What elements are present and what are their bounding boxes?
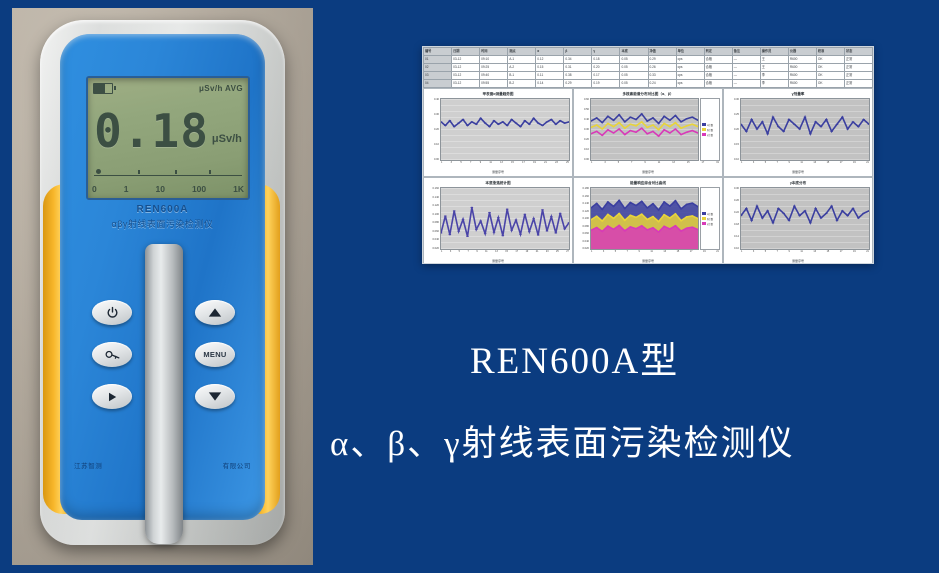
table-header-cell: 校准 (816, 48, 844, 56)
table-cell: 03-12 (452, 56, 480, 64)
device-model-label: REN600A (60, 204, 265, 215)
x-tick-label: 3 (604, 161, 605, 169)
slide-canvas: μSv/h AVG 0.18 μSv/h 0 1 10 100 1K REN60… (0, 0, 939, 573)
x-tick-label: 1 (591, 161, 592, 169)
table-cell: 0.34 (564, 56, 592, 64)
chart-plot-area (440, 187, 570, 250)
y-tick-label: 0.00 (576, 158, 589, 161)
x-tick-label: 19 (526, 250, 529, 258)
table-cell: 03 (424, 72, 452, 80)
x-tick-label: 23 (546, 250, 549, 258)
y-tick-label: 0.10 (726, 247, 739, 250)
chart-plot-area (590, 98, 699, 161)
y-tick-label: 0.10 (426, 143, 439, 146)
x-tick-label: 11 (800, 250, 802, 258)
table-cell: 王 (760, 56, 788, 64)
table-cell: 0.20 (592, 64, 620, 72)
y-tick-label: 0.160 (426, 187, 439, 190)
chart-panel[interactable]: 本底涨落统计图0.1600.1400.1200.1000.0800.0600.0… (423, 177, 573, 264)
x-tick-label: 3 (450, 250, 451, 258)
table-cell: — (732, 56, 760, 64)
x-tick-label: 19 (716, 161, 719, 169)
table-cell: 合格 (704, 64, 732, 72)
x-tick-label: 15 (827, 161, 830, 169)
chart-panel-title: 能量响应综合对比曲线 (576, 180, 720, 187)
power-icon (106, 306, 119, 319)
play-button[interactable] (92, 384, 132, 409)
x-tick-label: 13 (672, 161, 675, 169)
table-cell: 0.05 (620, 56, 648, 64)
table-cell: 03-12 (452, 64, 480, 72)
chart-y-axis: 0.600.500.400.300.200.100.00 (576, 98, 590, 161)
x-tick-label: 13 (495, 250, 498, 258)
chart-x-axis-label: 测量序号 (726, 258, 870, 264)
chart-panel[interactable]: γ剂量率0.300.250.200.150.101357911131517192… (723, 88, 873, 177)
table-cell: 正常 (844, 56, 872, 64)
table-cell: 正常 (844, 64, 872, 72)
table-cell: OK (816, 72, 844, 80)
x-tick-label: 7 (467, 250, 468, 258)
chart-x-axis: 135791113151719 (590, 161, 720, 169)
table-row[interactable]: 0403-1209:55B-20.140.290.190.050.24cps合格… (424, 80, 873, 88)
legend-item: γ计数 (702, 133, 718, 137)
y-tick-label: 0.30 (726, 187, 739, 190)
table-cell: 合格 (704, 80, 732, 88)
x-tick-label: 25 (566, 161, 569, 169)
lcd-scale-tick: 10 (155, 184, 164, 194)
table-header-cell: 本底 (620, 48, 648, 56)
table-cell: 0.15 (536, 64, 564, 72)
x-tick-label: 1 (591, 250, 592, 258)
x-tick-label: 3 (603, 250, 604, 258)
chart-panel-title: 本底涨落统计图 (426, 180, 570, 187)
x-tick-label: 17 (690, 250, 693, 258)
x-tick-label: 1 (441, 250, 442, 258)
y-tick-label: 0.100 (426, 213, 439, 216)
table-cell: 王 (760, 64, 788, 72)
chart-panel[interactable]: 能量响应综合对比曲线0.1800.1600.1400.1200.1000.080… (573, 177, 723, 264)
x-tick-label: 5 (459, 250, 460, 258)
table-cell: 0.05 (620, 72, 648, 80)
device-handle-strap (145, 244, 183, 544)
legend-label: γ计数 (707, 222, 713, 226)
x-tick-label: 11 (658, 161, 660, 169)
y-tick-label: 0.15 (726, 143, 739, 146)
chart-plot-area (740, 98, 870, 161)
table-cell: R600 (788, 72, 816, 80)
x-tick-label: 13 (663, 250, 666, 258)
x-tick-label: 17 (840, 250, 843, 258)
chart-plot-area (440, 98, 570, 161)
device-subtitle-label: αβγ射线表面污染检测仪 (60, 217, 265, 230)
product-photo: μSv/h AVG 0.18 μSv/h 0 1 10 100 1K REN60… (12, 8, 313, 565)
legend-label: α计数 (707, 212, 713, 216)
chart-x-axis-label: 测量序号 (426, 258, 570, 264)
chart-plot-body: 0.1800.1600.1400.1200.1000.0800.0600.040… (576, 187, 720, 250)
x-tick-label: 7 (631, 161, 632, 169)
table-row[interactable]: 0103-1209:10A-10.120.340.180.050.29cps合格… (424, 56, 873, 64)
table-cell: cps (676, 64, 704, 72)
chart-panel-title: 多核素能谱分布对比图（α、β） (576, 91, 720, 98)
table-header-cell: 时间 (480, 48, 508, 56)
table-cell: OK (816, 80, 844, 88)
table-row[interactable]: 0203-1209:25A-20.150.310.200.050.26cps合格… (424, 64, 873, 72)
chart-x-axis: 13579111315171921 (590, 250, 720, 258)
table-cell: B-1 (508, 72, 536, 80)
device-footer-right: 有限公司 (223, 460, 251, 470)
x-tick-label: 7 (470, 161, 471, 169)
device-branding: REN600A αβγ射线表面污染检测仪 (60, 204, 265, 230)
y-tick-label: 0.040 (576, 240, 589, 243)
table-cell: R600 (788, 64, 816, 72)
y-tick-label: 0.30 (726, 98, 739, 101)
y-tick-label: 0.160 (576, 195, 589, 198)
x-tick-label: 1 (741, 250, 742, 258)
x-tick-label: 5 (765, 161, 766, 169)
table-cell: 0.12 (536, 56, 564, 64)
y-tick-label: 0.020 (426, 247, 439, 250)
x-tick-label: 3 (753, 161, 754, 169)
x-tick-label: 19 (853, 250, 856, 258)
device-lcd-screen: μSv/h AVG 0.18 μSv/h 0 1 10 100 1K (86, 76, 250, 200)
x-tick-label: 9 (639, 250, 640, 258)
table-header-cell: 编号 (424, 48, 452, 56)
table-cell: 正常 (844, 80, 872, 88)
table-cell: cps (676, 56, 704, 64)
y-tick-label: 0.00 (426, 158, 439, 161)
x-tick-label: 7 (777, 250, 778, 258)
legend-label: γ计数 (707, 133, 713, 137)
x-tick-label: 17 (515, 250, 518, 258)
table-cell: 0.26 (648, 64, 676, 72)
legend-swatch (702, 133, 706, 136)
table-cell: 0.24 (648, 80, 676, 88)
y-tick-label: 0.40 (576, 118, 589, 121)
x-tick-label: 25 (556, 250, 559, 258)
chart-legend: α计数β计数γ计数 (700, 98, 720, 161)
chart-plot-area (590, 187, 699, 250)
table-cell: 0.05 (620, 64, 648, 72)
y-tick-label: 0.30 (426, 113, 439, 116)
table-cell: OK (816, 64, 844, 72)
y-tick-label: 0.26 (726, 199, 739, 202)
y-tick-label: 0.22 (726, 211, 739, 214)
x-tick-label: 5 (460, 161, 461, 169)
lcd-scale-tick: 1 (124, 184, 129, 194)
chart-y-axis: 0.300.260.220.180.140.10 (726, 187, 740, 250)
x-tick-label: 23 (555, 161, 558, 169)
table-header-cell: 操作员 (760, 48, 788, 56)
legend-item: γ计数 (702, 222, 718, 226)
legend-label: α计数 (707, 123, 713, 127)
menu-button-label: MENU (203, 350, 226, 359)
x-tick-label: 13 (813, 250, 816, 258)
table-cell: R600 (788, 80, 816, 88)
table-cell: B-2 (508, 80, 536, 88)
x-tick-label: 15 (827, 250, 830, 258)
table-cell: 合格 (704, 72, 732, 80)
x-tick-label: 27 (566, 250, 569, 258)
table-cell: 0.29 (564, 80, 592, 88)
y-tick-label: 0.040 (426, 238, 439, 241)
chart-plot-body: 0.300.260.220.180.140.10 (726, 187, 870, 250)
x-tick-label: 11 (485, 250, 487, 258)
y-tick-label: 0.20 (726, 128, 739, 131)
table-cell: 0.17 (592, 72, 620, 80)
y-tick-label: 0.180 (576, 187, 589, 190)
legend-item: α计数 (702, 123, 718, 127)
table-cell: 正常 (844, 72, 872, 80)
chart-panel-grid: 甲表面α测量趋势图0.400.300.200.100.0013579111315… (423, 88, 873, 264)
chart-x-axis-label: 测量序号 (426, 169, 570, 175)
table-cell: 0.29 (648, 56, 676, 64)
down-button[interactable] (195, 384, 235, 409)
x-tick-label: 9 (480, 161, 481, 169)
x-tick-label: 21 (866, 161, 869, 169)
table-cell: cps (676, 72, 704, 80)
table-cell: cps (676, 80, 704, 88)
search-button[interactable] (92, 342, 132, 367)
y-tick-label: 0.25 (726, 113, 739, 116)
y-tick-label: 0.060 (576, 232, 589, 235)
chart-plot-body: 0.300.250.200.150.10 (726, 98, 870, 161)
x-tick-label: 19 (703, 250, 706, 258)
y-tick-label: 0.14 (726, 235, 739, 238)
table-header-cell: 日期 (452, 48, 480, 56)
up-button[interactable] (195, 300, 235, 325)
chart-y-axis: 0.1600.1400.1200.1000.0800.0600.0400.020 (426, 187, 440, 250)
table-header-cell: α (536, 48, 564, 56)
table-cell: 李 (760, 80, 788, 88)
y-tick-label: 0.40 (426, 98, 439, 101)
table-header-cell: 判定 (704, 48, 732, 56)
x-tick-label: 15 (677, 250, 680, 258)
y-tick-label: 0.10 (576, 148, 589, 151)
lcd-unit: μSv/h (212, 133, 242, 145)
chart-y-axis: 0.400.300.200.100.00 (426, 98, 440, 161)
chart-panel[interactable]: γ本底分布0.300.260.220.180.140.1013579111315… (723, 177, 873, 264)
triangle-down-icon (208, 391, 222, 402)
chart-x-axis: 13579111315171921 (740, 161, 870, 169)
table-header-cell: 仪器 (788, 48, 816, 56)
table-cell: 李 (760, 72, 788, 80)
table-header-row: 编号日期时间测点αβγ本底净值单位判定备注操作员仪器校准状态 (424, 48, 873, 56)
x-tick-label: 21 (716, 250, 719, 258)
table-cell: 09:55 (480, 80, 508, 88)
table-cell: — (732, 72, 760, 80)
table-cell: 03-12 (452, 80, 480, 88)
x-tick-label: 7 (627, 250, 628, 258)
key-icon (105, 349, 120, 361)
table-cell: 0.19 (592, 80, 620, 88)
lcd-reading: 0.18 μSv/h (88, 100, 248, 162)
x-tick-label: 5 (765, 250, 766, 258)
y-tick-label: 0.60 (576, 98, 589, 101)
table-cell: 合格 (704, 56, 732, 64)
table-cell: 0.31 (564, 64, 592, 72)
page-title-line1: REN600A型 (470, 330, 930, 384)
table-cell: 0.14 (536, 80, 564, 88)
x-tick-label: 13 (500, 161, 503, 169)
play-icon (106, 391, 118, 403)
chart-panel[interactable]: 甲表面α测量趋势图0.400.300.200.100.0013579111315… (423, 88, 573, 177)
x-tick-label: 9 (789, 161, 790, 169)
chart-x-axis: 13579111315171921232527 (440, 250, 570, 258)
table-cell: A-1 (508, 56, 536, 64)
chart-panel-title: γ本底分布 (726, 180, 870, 187)
table-cell: 03-12 (452, 72, 480, 80)
x-tick-label: 19 (853, 161, 856, 169)
legend-swatch (702, 128, 706, 131)
x-tick-label: 11 (800, 161, 802, 169)
table-header-cell: 测点 (508, 48, 536, 56)
x-tick-label: 15 (505, 250, 508, 258)
y-tick-label: 0.100 (576, 217, 589, 220)
table-cell: 0.38 (564, 72, 592, 80)
battery-icon (93, 83, 113, 94)
table-cell: 09:25 (480, 64, 508, 72)
x-tick-label: 1 (441, 161, 442, 169)
page-title-line2: α、β、γ射线表面污染检测仪 (330, 415, 930, 466)
x-tick-label: 7 (777, 161, 778, 169)
x-tick-label: 5 (618, 161, 619, 169)
y-tick-label: 0.120 (426, 204, 439, 207)
chart-panel-title: γ剂量率 (726, 91, 870, 98)
chart-panel-title: 甲表面α测量趋势图 (426, 91, 570, 98)
y-tick-label: 0.30 (576, 128, 589, 131)
x-tick-label: 5 (615, 250, 616, 258)
table-header-cell: 备注 (732, 48, 760, 56)
chart-x-axis: 135791113151719212325 (440, 161, 570, 169)
table-cell: 0.11 (536, 72, 564, 80)
y-tick-label: 0.20 (426, 128, 439, 131)
measurement-data-table: 编号日期时间测点αβγ本底净值单位判定备注操作员仪器校准状态 0103-1209… (423, 47, 873, 88)
table-cell: 09:10 (480, 56, 508, 64)
chart-x-axis-label: 测量序号 (576, 169, 720, 175)
legend-item: β计数 (702, 217, 718, 221)
x-tick-label: 17 (702, 161, 705, 169)
y-tick-label: 0.120 (576, 210, 589, 213)
table-cell: — (732, 80, 760, 88)
table-cell: A-2 (508, 64, 536, 72)
x-tick-label: 11 (650, 250, 652, 258)
y-tick-label: 0.50 (576, 108, 589, 111)
table-cell: 02 (424, 64, 452, 72)
y-tick-label: 0.140 (426, 196, 439, 199)
lcd-scale-tick: 1K (233, 184, 244, 194)
legend-label: β计数 (707, 128, 713, 132)
chart-panel[interactable]: 多核素能谱分布对比图（α、β）0.600.500.400.300.200.100… (573, 88, 723, 177)
menu-button[interactable]: MENU (195, 342, 235, 367)
lcd-mode-text: μSv/h AVG (199, 84, 243, 93)
table-header-cell: 状态 (844, 48, 872, 56)
table-header-cell: 单位 (676, 48, 704, 56)
lcd-value: 0.18 (94, 108, 209, 154)
lcd-bargraph (94, 169, 242, 176)
y-tick-label: 0.10 (726, 158, 739, 161)
table-row[interactable]: 0303-1209:40B-10.110.380.170.050.33cps合格… (424, 72, 873, 80)
y-tick-label: 0.020 (576, 247, 589, 250)
chart-plot-area (740, 187, 870, 250)
chart-plot-body: 0.1600.1400.1200.1000.0800.0600.0400.020 (426, 187, 570, 250)
y-tick-label: 0.080 (576, 225, 589, 228)
lcd-scale-tick: 100 (192, 184, 206, 194)
table-header-cell: 净值 (648, 48, 676, 56)
x-tick-label: 13 (813, 161, 816, 169)
device-footer-left: 江苏智测 (74, 460, 102, 470)
legend-item: α计数 (702, 212, 718, 216)
chart-legend: α计数β计数γ计数 (700, 187, 720, 250)
table-cell: — (732, 64, 760, 72)
power-button[interactable] (92, 300, 132, 325)
table-cell: 01 (424, 56, 452, 64)
x-tick-label: 21 (866, 250, 869, 258)
x-tick-label: 9 (789, 250, 790, 258)
x-tick-label: 3 (451, 161, 452, 169)
legend-item: β计数 (702, 128, 718, 132)
x-tick-label: 17 (522, 161, 525, 169)
table-cell: 04 (424, 80, 452, 88)
x-tick-label: 21 (536, 250, 539, 258)
triangle-up-icon (208, 307, 222, 318)
y-tick-label: 0.060 (426, 230, 439, 233)
chart-y-axis: 0.1800.1600.1400.1200.1000.0800.0600.040… (576, 187, 590, 250)
legend-swatch (702, 222, 706, 225)
legend-label: β计数 (707, 217, 713, 221)
x-tick-label: 11 (489, 161, 491, 169)
x-tick-label: 1 (741, 161, 742, 169)
legend-swatch (702, 123, 706, 126)
y-tick-label: 0.18 (726, 223, 739, 226)
table-cell: OK (816, 56, 844, 64)
table-cell: 0.33 (648, 72, 676, 80)
lcd-status-bar: μSv/h AVG (93, 82, 243, 95)
chart-plot-body: 0.400.300.200.100.00 (426, 98, 570, 161)
table-cell: 0.18 (592, 56, 620, 64)
x-tick-label: 3 (753, 250, 754, 258)
y-tick-label: 0.080 (426, 221, 439, 224)
y-tick-label: 0.20 (576, 138, 589, 141)
chart-plot-body: 0.600.500.400.300.200.100.00α计数β计数γ计数 (576, 98, 720, 161)
x-tick-label: 9 (644, 161, 645, 169)
table-cell: R600 (788, 56, 816, 64)
legend-swatch (702, 212, 706, 215)
lcd-scale: 0 1 10 100 1K (92, 182, 244, 195)
chart-x-axis: 13579111315171921 (740, 250, 870, 258)
y-tick-label: 0.140 (576, 202, 589, 205)
table-header-cell: β (564, 48, 592, 56)
x-tick-label: 15 (511, 161, 514, 169)
chart-x-axis-label: 测量序号 (726, 169, 870, 175)
legend-swatch (702, 217, 706, 220)
x-tick-label: 9 (476, 250, 477, 258)
table-cell: 0.05 (620, 80, 648, 88)
table-header-cell: γ (592, 48, 620, 56)
table-cell: 09:40 (480, 72, 508, 80)
software-screenshot: 编号日期时间测点αβγ本底净值单位判定备注操作员仪器校准状态 0103-1209… (422, 46, 874, 264)
chart-y-axis: 0.300.250.200.150.10 (726, 98, 740, 161)
x-tick-label: 17 (840, 161, 843, 169)
x-tick-label: 21 (544, 161, 547, 169)
chart-x-axis-label: 测量序号 (576, 258, 720, 264)
lcd-scale-tick: 0 (92, 184, 97, 194)
x-tick-label: 19 (533, 161, 536, 169)
x-tick-label: 15 (687, 161, 690, 169)
